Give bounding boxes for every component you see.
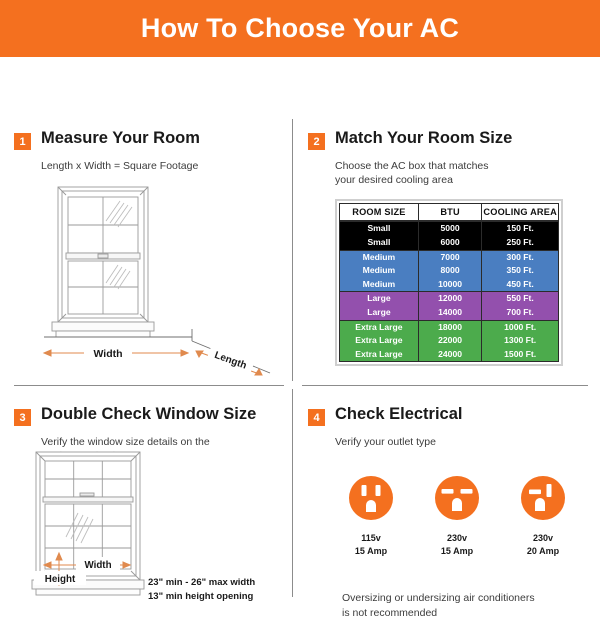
cell-btu: 18000 (418, 320, 482, 334)
outlet-230v-15amp-label: 230v15 Amp (441, 532, 473, 558)
cell-cooling-area: 700 Ft. (482, 306, 559, 320)
table-row: Large12000550 Ft. (340, 292, 559, 306)
cell-btu: 5000 (418, 221, 482, 236)
outlet-230v-20amp-icon (520, 475, 566, 521)
height-label-panel-3: Height (45, 574, 76, 585)
window-width-requirement: 23" min - 26" max width (148, 576, 255, 590)
divider-horizontal-left (14, 385, 284, 386)
outlet-type-list: 115v15 Amp 230v15 Amp 230v20 Amp (330, 475, 580, 558)
cell-room-size: Extra Large (340, 348, 419, 362)
cell-cooling-area: 350 Ft. (482, 264, 559, 278)
panel-1-subtitle: Length x Width = Square Footage (41, 159, 286, 173)
panel-3-title: Double Check Window Size (41, 405, 256, 423)
cell-room-size: Medium (340, 264, 419, 278)
cell-room-size: Large (340, 292, 419, 306)
window-height-requirement: 13" min height opening (148, 590, 255, 604)
cell-room-size: Large (340, 306, 419, 320)
cell-cooling-area: 250 Ft. (482, 236, 559, 250)
cell-room-size: Extra Large (340, 320, 419, 334)
page-title: How To Choose Your AC (141, 15, 459, 42)
cell-btu: 6000 (418, 236, 482, 250)
panel-2-title: Match Your Room Size (335, 129, 512, 147)
cell-room-size: Medium (340, 250, 419, 264)
window-opening-diagram: Width Height (28, 449, 148, 597)
cell-cooling-area: 300 Ft. (482, 250, 559, 264)
panel-2-subtitle: Choose the AC box that matchesyour desir… (335, 159, 590, 187)
panel-1-header: 1 Measure Your Room (14, 129, 286, 150)
table-row: Medium8000350 Ft. (340, 264, 559, 278)
outlet-115v-15amp-icon (348, 475, 394, 521)
cell-room-size: Extra Large (340, 334, 419, 348)
panel-4-title: Check Electrical (335, 405, 463, 423)
cell-room-size: Small (340, 221, 419, 236)
cell-btu: 22000 (418, 334, 482, 348)
outlet-230v-20amp-label: 230v20 Amp (527, 532, 559, 558)
column-header-room-size: ROOM SIZE (340, 204, 419, 222)
cell-btu: 10000 (418, 278, 482, 292)
outlet-option-115v-15amp[interactable]: 115v15 Amp (342, 475, 400, 558)
oversizing-note: Oversizing or undersizing air conditione… (342, 591, 582, 620)
window-dimension-notes: 23" min - 26" max width 13" min height o… (148, 576, 255, 604)
divider-vertical-bottom (292, 389, 293, 597)
table-row: Small6000250 Ft. (340, 236, 559, 250)
cell-cooling-area: 150 Ft. (482, 221, 559, 236)
btu-sizing-table: ROOM SIZE BTU COOLING AREA Small5000150 … (339, 203, 559, 362)
divider-horizontal-right (302, 385, 588, 386)
cell-room-size: Small (340, 236, 419, 250)
cell-cooling-area: 550 Ft. (482, 292, 559, 306)
panel-3-header: 3 Double Check Window Size (14, 405, 286, 426)
width-label-panel-1: Width (93, 348, 122, 360)
width-label-panel-3: Width (84, 560, 111, 571)
panel-4-header: 4 Check Electrical (308, 405, 590, 426)
btu-sizing-table-container: ROOM SIZE BTU COOLING AREA Small5000150 … (335, 199, 563, 366)
room-corner-window-diagram: Width Length (22, 183, 288, 378)
cell-cooling-area: 1000 Ft. (482, 320, 559, 334)
table-row: Extra Large220001300 Ft. (340, 334, 559, 348)
panel-1-title: Measure Your Room (41, 129, 200, 147)
panel-4-subtitle: Verify your outlet type (335, 435, 590, 449)
header-banner: How To Choose Your AC (0, 0, 600, 57)
table-row: Medium7000300 Ft. (340, 250, 559, 264)
divider-vertical-top (292, 119, 293, 381)
table-row: Extra Large180001000 Ft. (340, 320, 559, 334)
cell-cooling-area: 1300 Ft. (482, 334, 559, 348)
table-row: Small5000150 Ft. (340, 221, 559, 236)
cell-btu: 14000 (418, 306, 482, 320)
cell-btu: 24000 (418, 348, 482, 362)
step-badge-3: 3 (14, 409, 31, 426)
cell-btu: 12000 (418, 292, 482, 306)
cell-room-size: Medium (340, 278, 419, 292)
outlet-option-230v-20amp[interactable]: 230v20 Amp (514, 475, 572, 558)
table-row: Large14000700 Ft. (340, 306, 559, 320)
outlet-230v-15amp-icon (434, 475, 480, 521)
step-badge-2: 2 (308, 133, 325, 150)
table-row: Extra Large240001500 Ft. (340, 348, 559, 362)
cell-cooling-area: 1500 Ft. (482, 348, 559, 362)
outlet-option-230v-15amp[interactable]: 230v15 Amp (428, 475, 486, 558)
outlet-115v-15amp-label: 115v15 Amp (355, 532, 387, 558)
table-header-row: ROOM SIZE BTU COOLING AREA (340, 204, 559, 222)
step-badge-4: 4 (308, 409, 325, 426)
table-row: Medium10000450 Ft. (340, 278, 559, 292)
cell-cooling-area: 450 Ft. (482, 278, 559, 292)
column-header-cooling-area: COOLING AREA (482, 204, 559, 222)
cell-btu: 8000 (418, 264, 482, 278)
panel-grid: 1 Measure Your Room Length x Width = Squ… (0, 57, 600, 600)
cell-btu: 7000 (418, 250, 482, 264)
panel-2-header: 2 Match Your Room Size (308, 129, 590, 150)
panel-match-your-room-size: 2 Match Your Room Size Choose the AC box… (308, 129, 590, 381)
column-header-btu: BTU (418, 204, 482, 222)
step-badge-1: 1 (14, 133, 31, 150)
